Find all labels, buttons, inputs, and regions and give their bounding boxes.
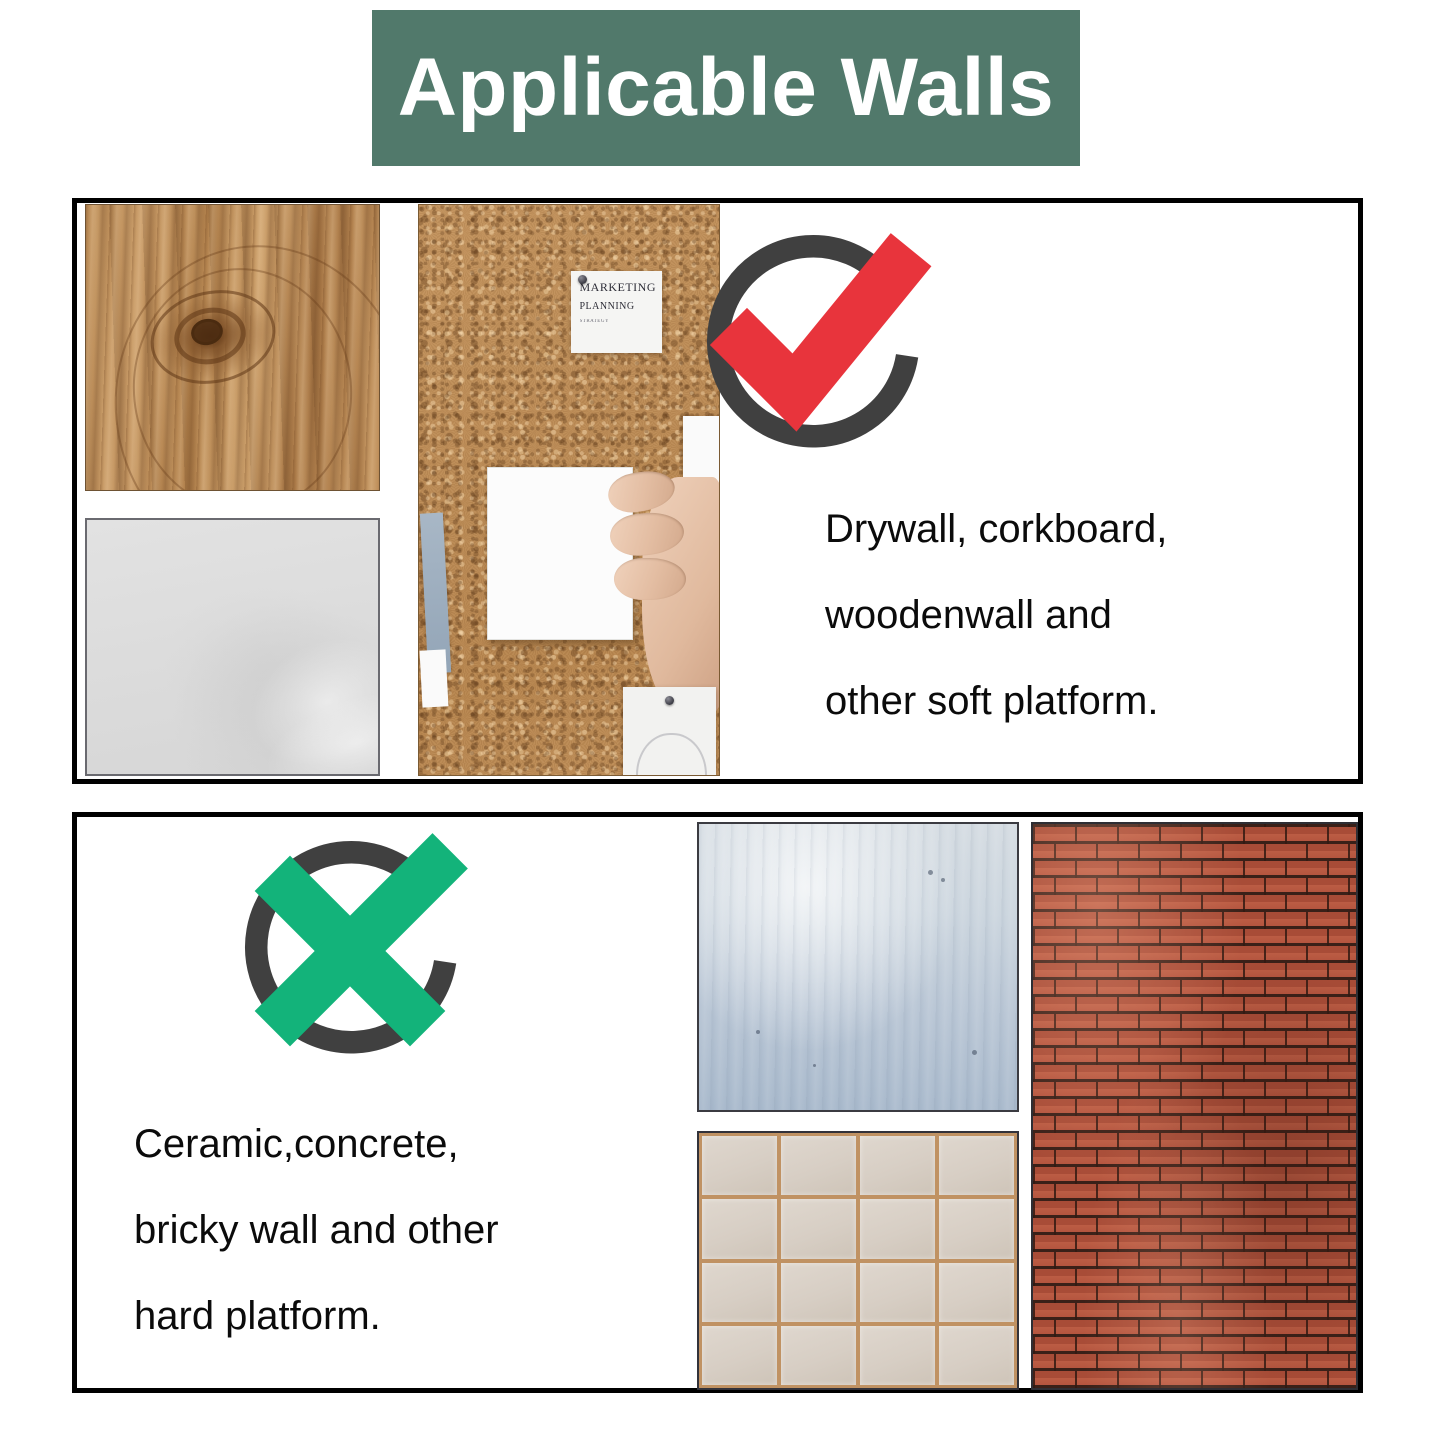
tile-cell (860, 1326, 935, 1385)
tile-cell (781, 1199, 856, 1258)
tile-cell (860, 1263, 935, 1322)
tile-cell (860, 1199, 935, 1258)
tile-cell (939, 1326, 1014, 1385)
caption-line-3: hard platform. (134, 1273, 499, 1359)
tile-cell (702, 1136, 777, 1195)
tile-cell (781, 1263, 856, 1322)
page-title: Applicable Walls (398, 47, 1055, 129)
tile-cell (702, 1263, 777, 1322)
concrete-blemish (756, 1030, 760, 1034)
check-circle-icon (687, 225, 937, 475)
caption-line-2: bricky wall and other (134, 1187, 499, 1273)
pushpin-icon (665, 696, 674, 705)
ceramic-tile-surface-photo (697, 1131, 1019, 1390)
tile-cell (939, 1199, 1014, 1258)
tile-cell (781, 1326, 856, 1385)
concrete-blemish (928, 870, 933, 875)
cross-circle-icon (225, 831, 475, 1081)
finger (614, 558, 686, 600)
tile-cell (939, 1136, 1014, 1195)
concrete-blemish (813, 1064, 816, 1067)
caption-line-2: woodenwall and (825, 572, 1167, 658)
pushpin-icon (578, 275, 587, 284)
wood-surface-photo (85, 204, 380, 491)
tile-cell (781, 1136, 856, 1195)
brick-surface-photo (1031, 822, 1358, 1390)
tile-cell (860, 1136, 935, 1195)
tile-cell (939, 1263, 1014, 1322)
caption-line-3: other soft platform. (825, 658, 1167, 744)
note-title: MARKETING (580, 280, 663, 295)
applicable-walls-panel: MARKETING PLANNING STRATEGY (72, 198, 1363, 784)
concrete-blemish (941, 878, 945, 882)
caption-line-1: Ceramic,concrete, (134, 1101, 499, 1187)
tile-cell (702, 1326, 777, 1385)
not-applicable-walls-panel: Ceramic,concrete, bricky wall and other … (72, 812, 1363, 1393)
note-subtitle: PLANNING (580, 301, 663, 312)
corkboard-note-marketing: MARKETING PLANNING STRATEGY (571, 271, 663, 354)
sketch-outline (636, 733, 707, 776)
brick-joints (1033, 824, 1356, 1388)
applicable-caption: Drywall, corkboard, woodenwall and other… (825, 486, 1167, 744)
note-small-text: STRATEGY (580, 319, 663, 324)
concrete-blemish (972, 1050, 977, 1055)
corkboard-card-bottom (623, 687, 716, 776)
caption-line-1: Drywall, corkboard, (825, 486, 1167, 572)
concrete-surface-photo (697, 822, 1019, 1112)
drywall-surface-photo (85, 518, 380, 776)
corkboard-white-strip (420, 649, 448, 707)
tile-cell (702, 1199, 777, 1258)
not-applicable-caption: Ceramic,concrete, bricky wall and other … (134, 1101, 499, 1359)
title-banner: Applicable Walls (372, 10, 1080, 166)
corkboard-blue-strip (419, 512, 450, 673)
corkboard-surface-photo: MARKETING PLANNING STRATEGY (418, 204, 720, 776)
hand-photo (608, 456, 720, 718)
